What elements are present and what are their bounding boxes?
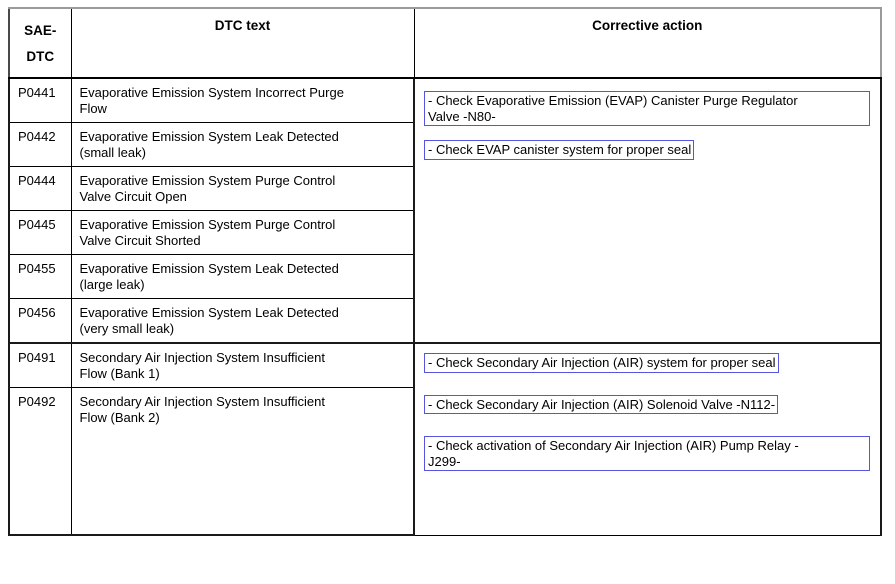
dtc-text-line1: Evaporative Emission System Purge Contro… bbox=[80, 173, 408, 189]
table-row: P0491 Secondary Air Injection System Ins… bbox=[9, 343, 881, 388]
header-row: SAE- DTC DTC text Corrective action bbox=[9, 8, 881, 78]
dtc-text-line2: Flow (Bank 1) bbox=[80, 366, 408, 382]
corrective-action-line1: - Check Secondary Air Injection (AIR) So… bbox=[428, 397, 775, 413]
corrective-action-item[interactable]: - Check Evaporative Emission (EVAP) Cani… bbox=[424, 91, 870, 126]
corrective-action-item[interactable]: - Check Secondary Air Injection (AIR) sy… bbox=[424, 353, 779, 373]
corrective-action-line1: - Check EVAP canister system for proper … bbox=[428, 142, 691, 158]
dtc-text-line2: Valve Circuit Open bbox=[80, 189, 408, 205]
dtc-text-line1: Evaporative Emission System Purge Contro… bbox=[80, 217, 408, 233]
document-page: SAE- DTC DTC text Corrective action P044… bbox=[0, 0, 895, 584]
cell-dtc-text: Evaporative Emission System Leak Detecte… bbox=[71, 255, 414, 299]
table-row: P0441 Evaporative Emission System Incorr… bbox=[9, 78, 881, 123]
spacer bbox=[424, 373, 870, 395]
spacer bbox=[424, 126, 870, 140]
spacer bbox=[424, 414, 870, 436]
corrective-action-line2: Valve -N80- bbox=[428, 109, 867, 125]
corrective-action-item[interactable]: - Check Secondary Air Injection (AIR) So… bbox=[424, 395, 778, 415]
table-body: P0441 Evaporative Emission System Incorr… bbox=[9, 78, 881, 535]
dtc-text-line1: Secondary Air Injection System Insuffici… bbox=[80, 350, 408, 366]
cell-dtc-code: P0444 bbox=[9, 167, 71, 211]
dtc-text-line1: Evaporative Emission System Leak Detecte… bbox=[80, 261, 408, 277]
cell-corrective-action-air: - Check Secondary Air Injection (AIR) sy… bbox=[414, 343, 881, 535]
cell-dtc-text: Evaporative Emission System Leak Detecte… bbox=[71, 299, 414, 344]
dtc-text-line1: Evaporative Emission System Incorrect Pu… bbox=[80, 85, 408, 101]
table-header: SAE- DTC DTC text Corrective action bbox=[9, 8, 881, 78]
cell-dtc-code: P0442 bbox=[9, 123, 71, 167]
dtc-text-line2: Flow bbox=[80, 101, 408, 117]
corrective-action-line1: - Check Evaporative Emission (EVAP) Cani… bbox=[428, 93, 867, 109]
column-header-corrective-action-label: Corrective action bbox=[415, 9, 881, 33]
column-header-sae-dtc-line2: DTC bbox=[10, 44, 71, 70]
dtc-table: SAE- DTC DTC text Corrective action P044… bbox=[8, 7, 882, 536]
cell-dtc-code: P0492 bbox=[9, 388, 71, 536]
corrective-action-line2: J299- bbox=[428, 454, 867, 470]
corrective-action-list-air: - Check Secondary Air Injection (AIR) sy… bbox=[415, 344, 880, 471]
column-header-sae-dtc: SAE- DTC bbox=[9, 8, 71, 78]
dtc-text-line1: Evaporative Emission System Leak Detecte… bbox=[80, 305, 408, 321]
cell-dtc-text: Evaporative Emission System Incorrect Pu… bbox=[71, 78, 414, 123]
cell-dtc-code: P0456 bbox=[9, 299, 71, 344]
column-header-sae-dtc-line1: SAE- bbox=[10, 18, 71, 44]
dtc-text-line2: Valve Circuit Shorted bbox=[80, 233, 408, 249]
dtc-text-line2: (small leak) bbox=[80, 145, 408, 161]
cell-dtc-text: Evaporative Emission System Purge Contro… bbox=[71, 167, 414, 211]
dtc-text-line2: Flow (Bank 2) bbox=[80, 410, 408, 426]
column-header-corrective-action: Corrective action bbox=[414, 8, 881, 78]
corrective-action-item[interactable]: - Check EVAP canister system for proper … bbox=[424, 140, 694, 160]
cell-dtc-text: Evaporative Emission System Leak Detecte… bbox=[71, 123, 414, 167]
dtc-text-line1: Evaporative Emission System Leak Detecte… bbox=[80, 129, 408, 145]
corrective-action-item[interactable]: - Check activation of Secondary Air Inje… bbox=[424, 436, 870, 471]
corrective-action-line1: - Check Secondary Air Injection (AIR) sy… bbox=[428, 355, 776, 371]
cell-dtc-code: P0491 bbox=[9, 343, 71, 388]
cell-dtc-code: P0455 bbox=[9, 255, 71, 299]
cell-dtc-text: Evaporative Emission System Purge Contro… bbox=[71, 211, 414, 255]
dtc-text-line2: (large leak) bbox=[80, 277, 408, 293]
cell-dtc-code: P0441 bbox=[9, 78, 71, 123]
cell-dtc-code: P0445 bbox=[9, 211, 71, 255]
cell-dtc-text: Secondary Air Injection System Insuffici… bbox=[71, 343, 414, 388]
cell-dtc-text: Secondary Air Injection System Insuffici… bbox=[71, 388, 414, 536]
dtc-text-line2: (very small leak) bbox=[80, 321, 408, 337]
cell-corrective-action-evap: - Check Evaporative Emission (EVAP) Cani… bbox=[414, 78, 881, 343]
column-header-dtc-text: DTC text bbox=[71, 8, 414, 78]
column-header-dtc-text-label: DTC text bbox=[72, 9, 414, 33]
corrective-action-line1: - Check activation of Secondary Air Inje… bbox=[428, 438, 867, 454]
dtc-text-line1: Secondary Air Injection System Insuffici… bbox=[80, 394, 408, 410]
corrective-action-list-evap: - Check Evaporative Emission (EVAP) Cani… bbox=[415, 79, 880, 160]
